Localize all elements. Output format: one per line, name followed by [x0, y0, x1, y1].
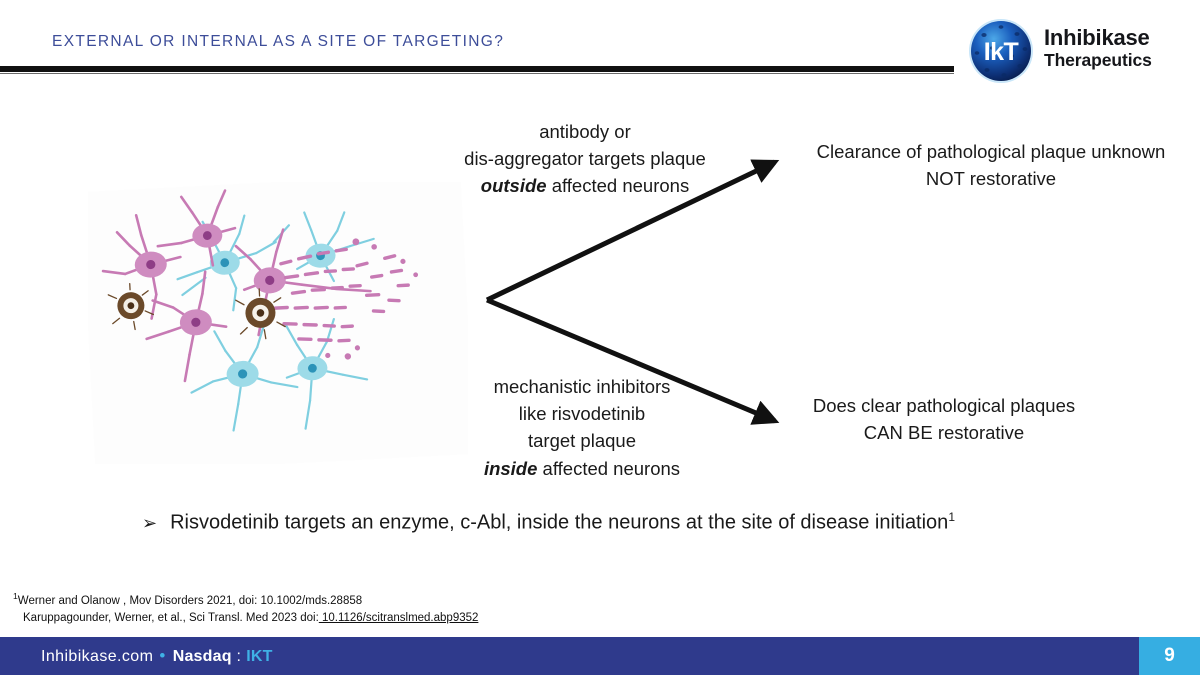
svg-text:IkT: IkT: [984, 38, 1019, 66]
colon-label: :: [232, 648, 247, 665]
callout-line: outside affected neurons: [420, 172, 750, 199]
ticker-symbol: IKT: [246, 648, 272, 665]
exchange-label: Nasdaq: [173, 648, 232, 665]
callout-line: CAN BE restorative: [786, 419, 1102, 446]
callout-line: Clearance of pathological plaque unknown: [782, 138, 1200, 165]
callout-external-outcome: Clearance of pathological plaque unknown…: [782, 138, 1200, 192]
callout-internal-mechanism: mechanistic inhibitors like risvodetinib…: [452, 373, 712, 482]
footnote-block: 1Werner and Olanow , Mov Disorders 2021,…: [13, 590, 478, 626]
doi-link[interactable]: 10.1126/scitranslmed.abp9352: [319, 612, 479, 624]
callout-line-rest: affected neurons: [547, 175, 690, 196]
title-divider-shadow: [0, 73, 954, 74]
website-link[interactable]: Inhibikase.com: [41, 648, 153, 665]
bullet-text: Risvodetinib targets an enzyme, c-Abl, i…: [170, 510, 955, 535]
slide: EXTERNAL OR INTERNAL AS A SITE OF TARGET…: [0, 0, 1200, 675]
arrowhead-bullet-icon: ➢: [142, 514, 157, 532]
logo-company-name: Inhibikase: [1044, 26, 1152, 51]
footnote-line-1: 1Werner and Olanow , Mov Disorders 2021,…: [13, 590, 478, 610]
title-divider: [0, 66, 954, 72]
callout-line-rest: affected neurons: [537, 458, 680, 479]
callout-line: dis-aggregator targets plaque: [420, 145, 750, 172]
callout-external-mechanism: antibody or dis-aggregator targets plaqu…: [420, 118, 750, 200]
neuron-network-illustration: [88, 182, 468, 464]
page-number: 9: [1164, 645, 1175, 667]
ikt-sphere-icon: IkT: [968, 18, 1034, 84]
callout-line: target plaque: [452, 427, 712, 454]
bullet-text-main: Risvodetinib targets an enzyme, c-Abl, i…: [170, 512, 948, 534]
separator-dot-icon: •: [153, 646, 172, 665]
footnote-line-2: Karuppagounder, Werner, et al., Sci Tran…: [13, 610, 478, 627]
page-number-badge: 9: [1139, 637, 1200, 675]
callout-line: NOT restorative: [782, 165, 1200, 192]
callout-line: like risvodetinib: [452, 400, 712, 427]
footnote-text: Karuppagounder, Werner, et al., Sci Tran…: [23, 612, 319, 624]
logo-wordmark: Inhibikase Therapeutics: [1044, 26, 1152, 70]
company-logo: IkT Inhibikase Therapeutics: [968, 18, 1182, 86]
callout-internal-outcome: Does clear pathological plaques CAN BE r…: [786, 392, 1102, 446]
page-title: EXTERNAL OR INTERNAL AS A SITE OF TARGET…: [52, 33, 504, 51]
bullet-footnote-marker: 1: [948, 510, 955, 524]
footnote-text: Werner and Olanow , Mov Disorders 2021, …: [18, 595, 362, 607]
key-takeaway-bullet: ➢ Risvodetinib targets an enzyme, c-Abl,…: [142, 510, 955, 535]
callout-emphasis: inside: [484, 458, 537, 479]
callout-line: antibody or: [420, 118, 750, 145]
callout-emphasis: outside: [481, 175, 547, 196]
callout-line: mechanistic inhibitors: [452, 373, 712, 400]
logo-company-suffix: Therapeutics: [1044, 51, 1152, 71]
footer-info: Inhibikase.com•Nasdaq : IKT: [41, 646, 273, 666]
callout-line: Does clear pathological plaques: [786, 392, 1102, 419]
callout-line: inside affected neurons: [452, 455, 712, 482]
